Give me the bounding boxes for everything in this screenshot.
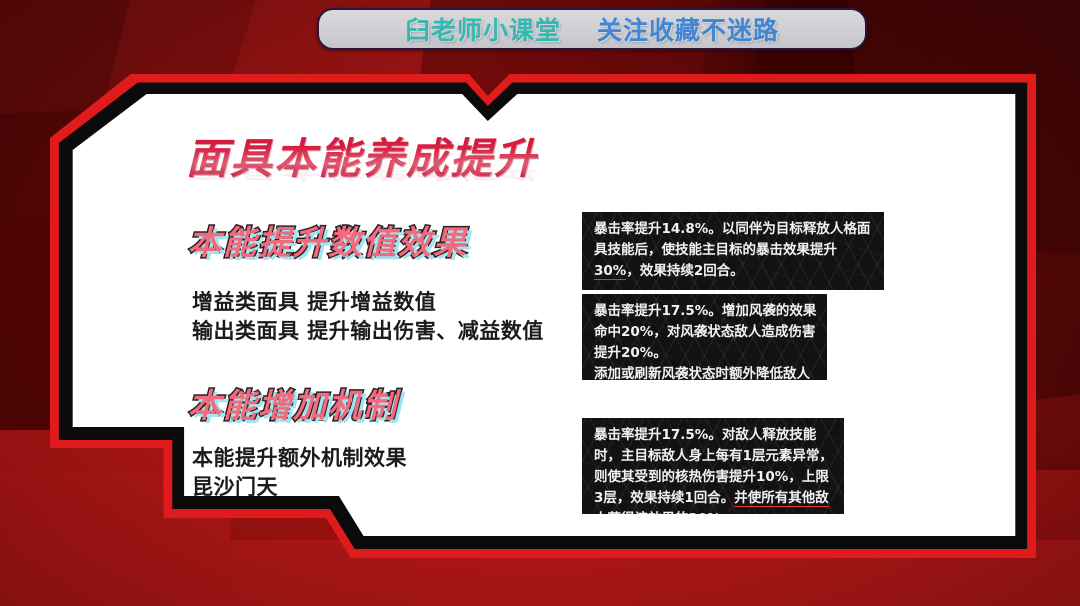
section-heading-added-mechanics: 本能增加机制 xyxy=(188,379,398,427)
page-title-reflection: 面具本能养成提升 xyxy=(186,154,538,188)
skill-description-box: 暴击率提升17.5%。对敌人释放技能时，主目标敌人身上每有1层元素异常，则使其受… xyxy=(582,418,844,514)
content-area: 面具本能养成提升 面具本能养成提升 本能提升数值效果 增益类面具 提升增益数值 … xyxy=(0,0,1080,606)
skill-description-box: 暴击率提升17.5%。增加风袭的效果命中20%，对风袭状态敌人造成伤害提升20%… xyxy=(582,294,827,380)
section-heading-value-effects: 本能提升数值效果 xyxy=(188,216,468,264)
section-line: 本能提升额外机制效果 xyxy=(192,442,407,472)
section-line: 输出类面具 提升输出伤害、减益数值 xyxy=(192,315,544,345)
top-banner: 臼老师小课堂 关注收藏不迷路 xyxy=(317,8,867,50)
banner-channel-label: 臼老师小课堂 xyxy=(405,11,561,47)
section-line: 昆沙门天 xyxy=(192,471,278,501)
skill-description-box: 暴击率提升14.8%。以同伴为目标释放人格面具技能后，使技能主目标的暴击效果提升… xyxy=(582,212,884,290)
section-line: 增益类面具 提升增益数值 xyxy=(192,286,436,316)
banner-cta-label: 关注收藏不迷路 xyxy=(597,11,779,47)
